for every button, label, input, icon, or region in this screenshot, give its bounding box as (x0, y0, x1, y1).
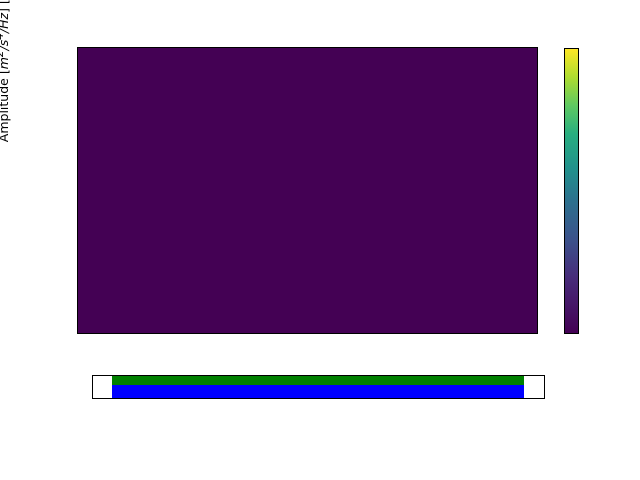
y-axis-title: Amplitude [m2/s4/Hz] [dB] (0, 0, 11, 190)
timeline-date-labels (0, 399, 640, 469)
colorbar (564, 48, 579, 334)
timeline-coverage-segment (112, 385, 524, 398)
noise-model-curves (78, 48, 537, 333)
x-axis-tick-labels (77, 336, 538, 360)
timeline-coverage-bar[interactable] (92, 375, 545, 399)
ppsd-axes (77, 47, 538, 334)
colorbar-tick-labels (581, 48, 621, 334)
timeline-data-segment (112, 376, 524, 385)
timeline-fill (112, 376, 524, 398)
